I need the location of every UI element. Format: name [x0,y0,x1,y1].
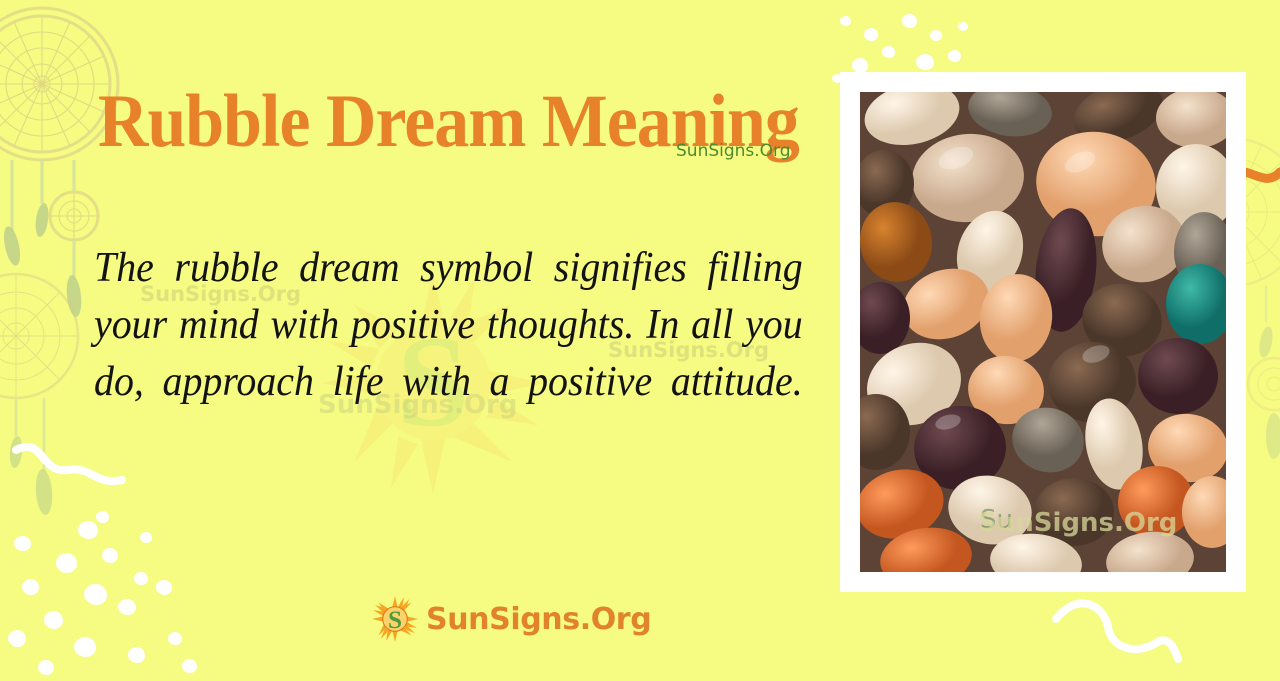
body-paragraph: The rubble dream symbol signifies fillin… [94,240,803,468]
sunsigns-sun-logo-icon: S [372,596,418,642]
svg-text:S: S [388,606,402,634]
title-watermark: SunSigns.Org [676,141,791,161]
pebbles-photo [860,92,1226,572]
footer-logo-text: SunSigns.Org [426,602,651,637]
banner-canvas: S SunSigns.Org SunSigns.Org SunSigns.Org… [0,0,1280,681]
photo-watermark: Su [980,505,1013,535]
footer-logo[interactable]: S SunSigns.Org [372,596,651,642]
squiggle-decoration-right [1052,593,1182,673]
